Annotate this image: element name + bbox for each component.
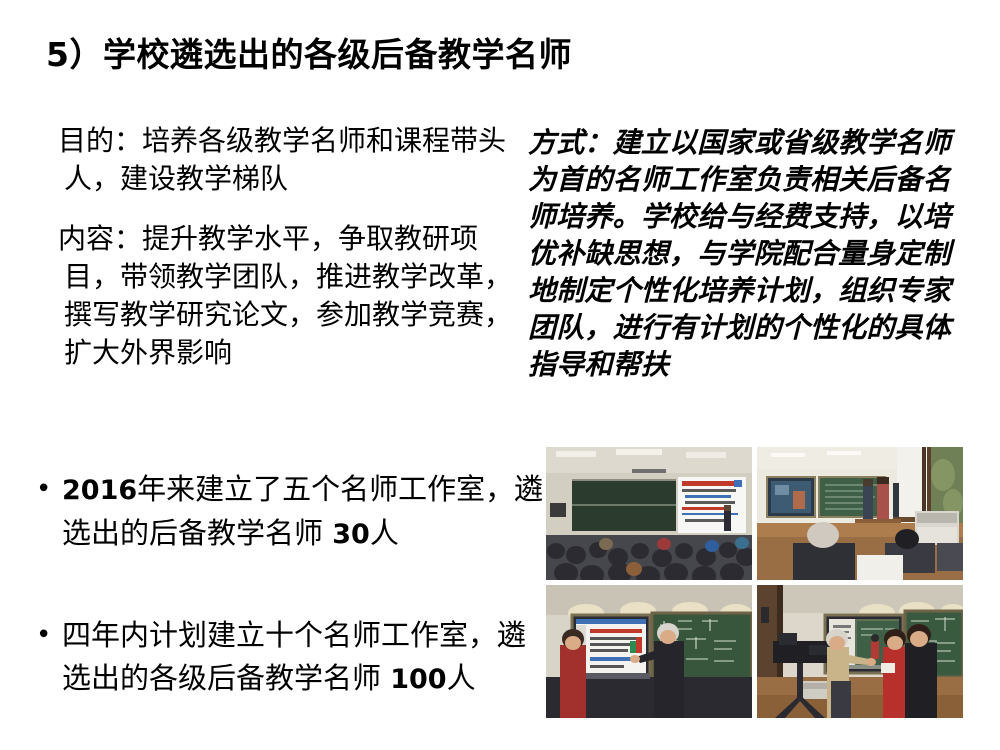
page-title: 5）学校遴选出的各级后备教学名师 [46, 34, 946, 76]
photo-grid [546, 447, 962, 718]
lecture-hall-image [546, 447, 752, 580]
bullet-marker-icon: • [36, 614, 51, 657]
bullet-count-1: 30 [332, 519, 370, 550]
recording-session-photo [757, 585, 963, 718]
right-text-column: 方式：建立以国家或省级教学名师为首的名师工作室负责相关后备名师培养。学校给与经费… [528, 124, 958, 383]
bullet-unit-1: 人 [370, 516, 399, 550]
bullet-count-2: 100 [390, 664, 446, 695]
bullet-text-2: 四年内计划建立十个名师工作室，遴选出的各级后备教学名师 100人 [34, 614, 544, 701]
bullet-marker-icon: • [36, 468, 51, 511]
page-title-text: 学校遴选出的各级后备教学名师 [103, 35, 572, 74]
bullet-text-1: 2016年来建立了五个名师工作室，遴选出的后备教学名师 30人 [34, 468, 544, 556]
classroom-observation-photo [757, 447, 963, 580]
list-item: • 四年内计划建立十个名师工作室，遴选出的各级后备教学名师 100人 [34, 614, 544, 701]
content-paragraph: 内容：提升教学水平，争取教研项目，带领教学团队，推进教学改革，撰写教学研究论文，… [40, 220, 520, 372]
bullet-list: • 2016年来建立了五个名师工作室，遴选出的后备教学名师 30人 • 四年内计… [34, 468, 544, 701]
recording-session-image [757, 585, 963, 718]
screen-discussion-photo [546, 585, 752, 718]
purpose-paragraph: 目的：培养各级教学名师和课程带头人，建设教学梯队 [40, 122, 520, 198]
list-item: • 2016年来建立了五个名师工作室，遴选出的后备教学名师 30人 [34, 468, 544, 556]
classroom-observation-image [757, 447, 963, 580]
bullet-unit-2: 人 [447, 661, 476, 695]
method-paragraph: 方式：建立以国家或省级教学名师为首的名师工作室负责相关后备名师培养。学校给与经费… [528, 124, 958, 383]
page-title-number: 5） [46, 35, 103, 74]
lecture-hall-photo [546, 447, 752, 580]
slide-canvas: 5）学校遴选出的各级后备教学名师 目的：培养各级教学名师和课程带头人，建设教学梯… [0, 0, 1000, 750]
bullet-year-value: 2016 [62, 475, 137, 506]
left-text-column: 目的：培养各级教学名师和课程带头人，建设教学梯队 内容：提升教学水平，争取教研项… [40, 122, 520, 372]
screen-discussion-image [546, 585, 752, 718]
